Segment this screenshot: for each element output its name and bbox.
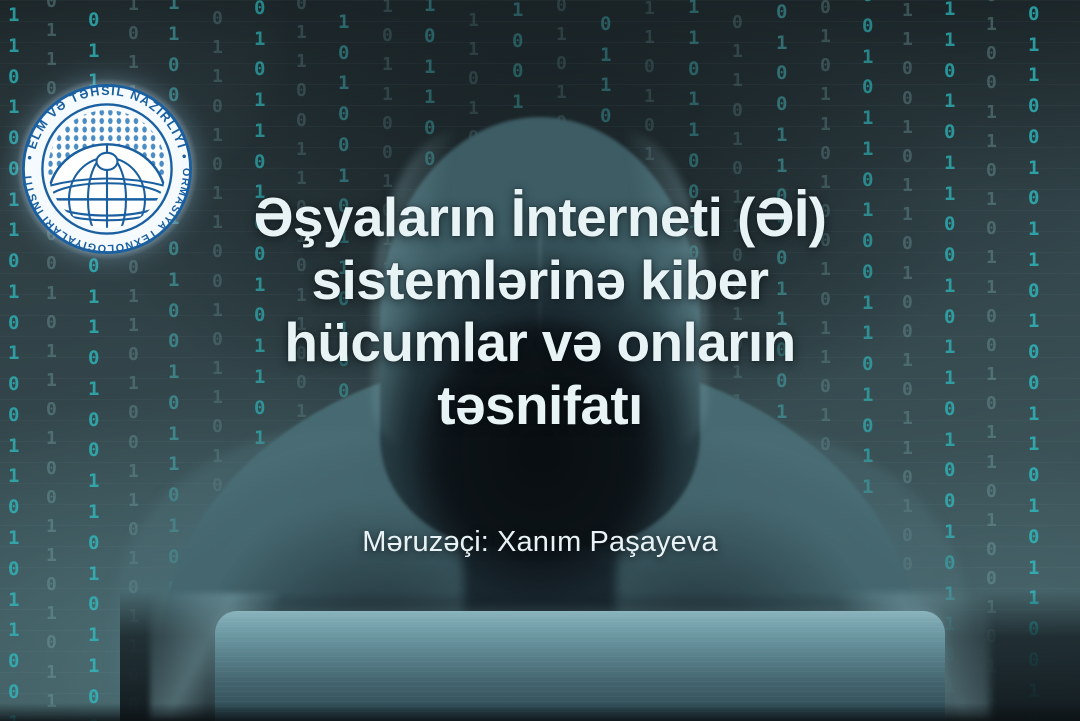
desk-shadow [0,703,1080,721]
presenter-subtitle: Məruzəçi: Xanım Paşayeva [0,526,1080,559]
presentation-title-slide: 1 1 0 1 0 0 1 1 0 1 0 1 0 0 1 1 0 1 0 1 … [0,0,1080,721]
figure-face-shadow [415,321,665,611]
institute-logo-icon: • ELM VƏ TƏHSİL NAZİRLİYİ • İNFORMASİYA … [12,74,202,264]
